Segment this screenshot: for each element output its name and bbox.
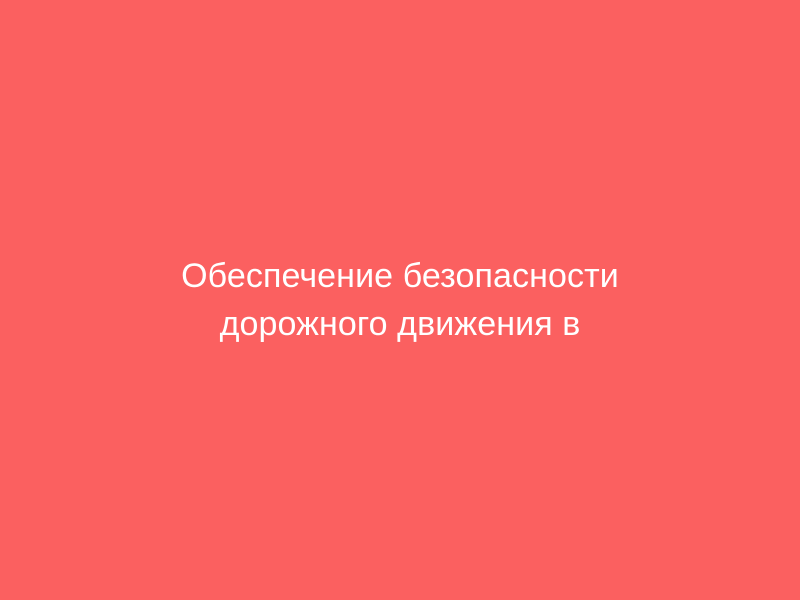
placeholder-canvas: Обеспечение безопасности дорожного движе… xyxy=(0,0,800,600)
placeholder-title: Обеспечение безопасности дорожного движе… xyxy=(100,252,700,348)
placeholder-text-block: Обеспечение безопасности дорожного движе… xyxy=(100,252,700,348)
